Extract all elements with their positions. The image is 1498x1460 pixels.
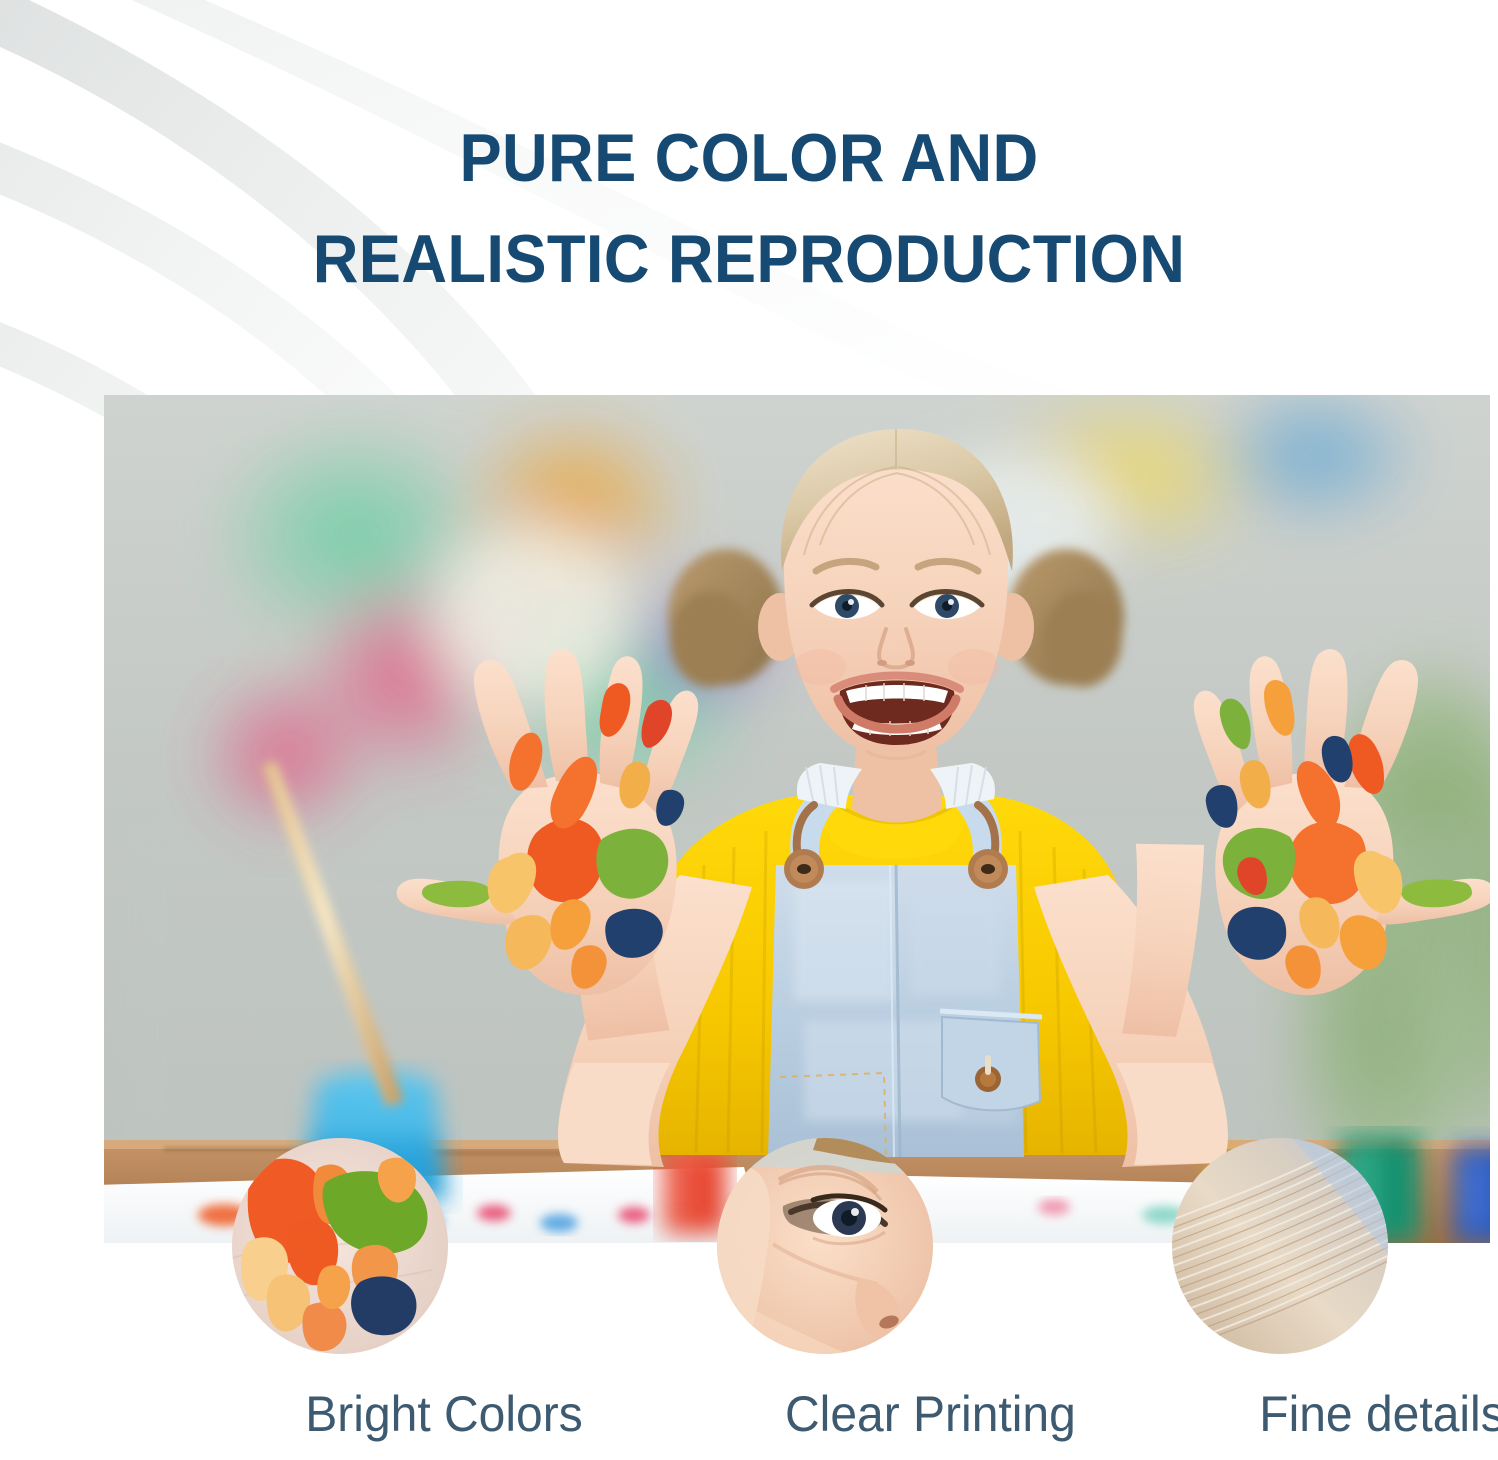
caption-row: Bright Colors Clear Printing Fine detail…: [104, 1378, 1490, 1450]
caption-fine-details: Fine details: [1238, 1378, 1498, 1450]
page-title-line-1: PURE COLOR AND: [52, 108, 1445, 209]
bright-colors-inset: [232, 1138, 448, 1354]
product-feature-banner: PURE COLOR AND REALISTIC REPRODUCTION: [0, 0, 1498, 1460]
hero-photo: [104, 395, 1490, 1243]
clear-printing-inset: [717, 1138, 933, 1354]
page-title: PURE COLOR AND REALISTIC REPRODUCTION: [52, 108, 1445, 309]
fine-details-inset: [1172, 1138, 1388, 1354]
caption-bright-colors: Bright Colors: [300, 1378, 588, 1450]
caption-clear-printing: Clear Printing: [785, 1378, 1073, 1450]
page-title-line-2: REALISTIC REPRODUCTION: [52, 209, 1445, 310]
